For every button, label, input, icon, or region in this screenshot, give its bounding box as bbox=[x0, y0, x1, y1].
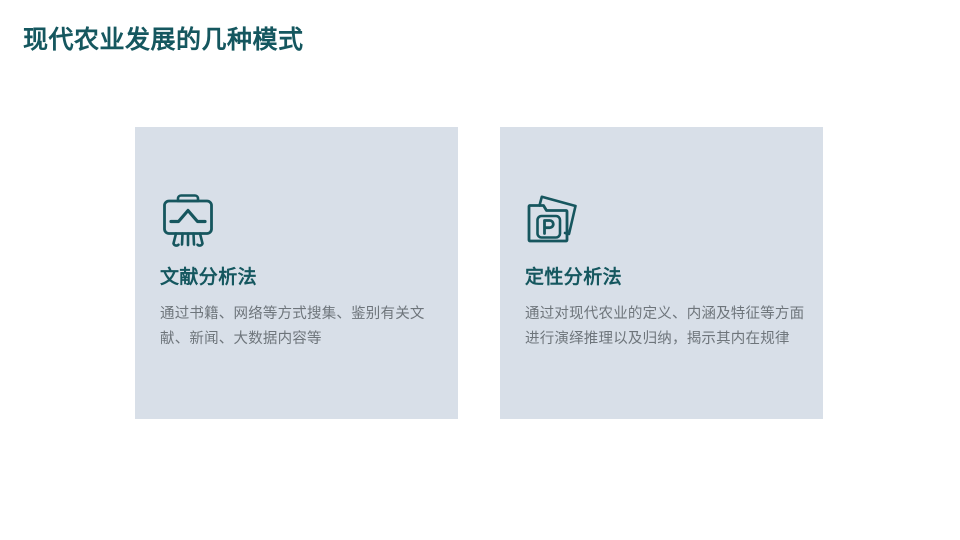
folder-letter-p-icon bbox=[525, 192, 581, 250]
presentation-board-chart-icon bbox=[160, 192, 216, 250]
card-qualitative-analysis[interactable]: 定性分析法 通过对现代农业的定义、内涵及特征等方面进行演绎推理以及归纳，揭示其内… bbox=[500, 127, 823, 419]
card-list: 文献分析法 通过书籍、网络等方式搜集、鉴别有关文献、新闻、大数据内容等 定性分析… bbox=[135, 127, 825, 419]
card-body-text: 通过对现代农业的定义、内涵及特征等方面进行演绎推理以及归纳，揭示其内在规律 bbox=[525, 302, 810, 352]
card-body-text: 通过书籍、网络等方式搜集、鉴别有关文献、新闻、大数据内容等 bbox=[160, 302, 445, 352]
card-literature-analysis[interactable]: 文献分析法 通过书籍、网络等方式搜集、鉴别有关文献、新闻、大数据内容等 bbox=[135, 127, 458, 419]
page-title: 现代农业发展的几种模式 bbox=[23, 24, 304, 56]
card-heading: 文献分析法 bbox=[160, 265, 257, 291]
slide-root: 现代农业发展的几种模式 文献分 bbox=[0, 0, 960, 540]
card-heading: 定性分析法 bbox=[525, 265, 622, 291]
